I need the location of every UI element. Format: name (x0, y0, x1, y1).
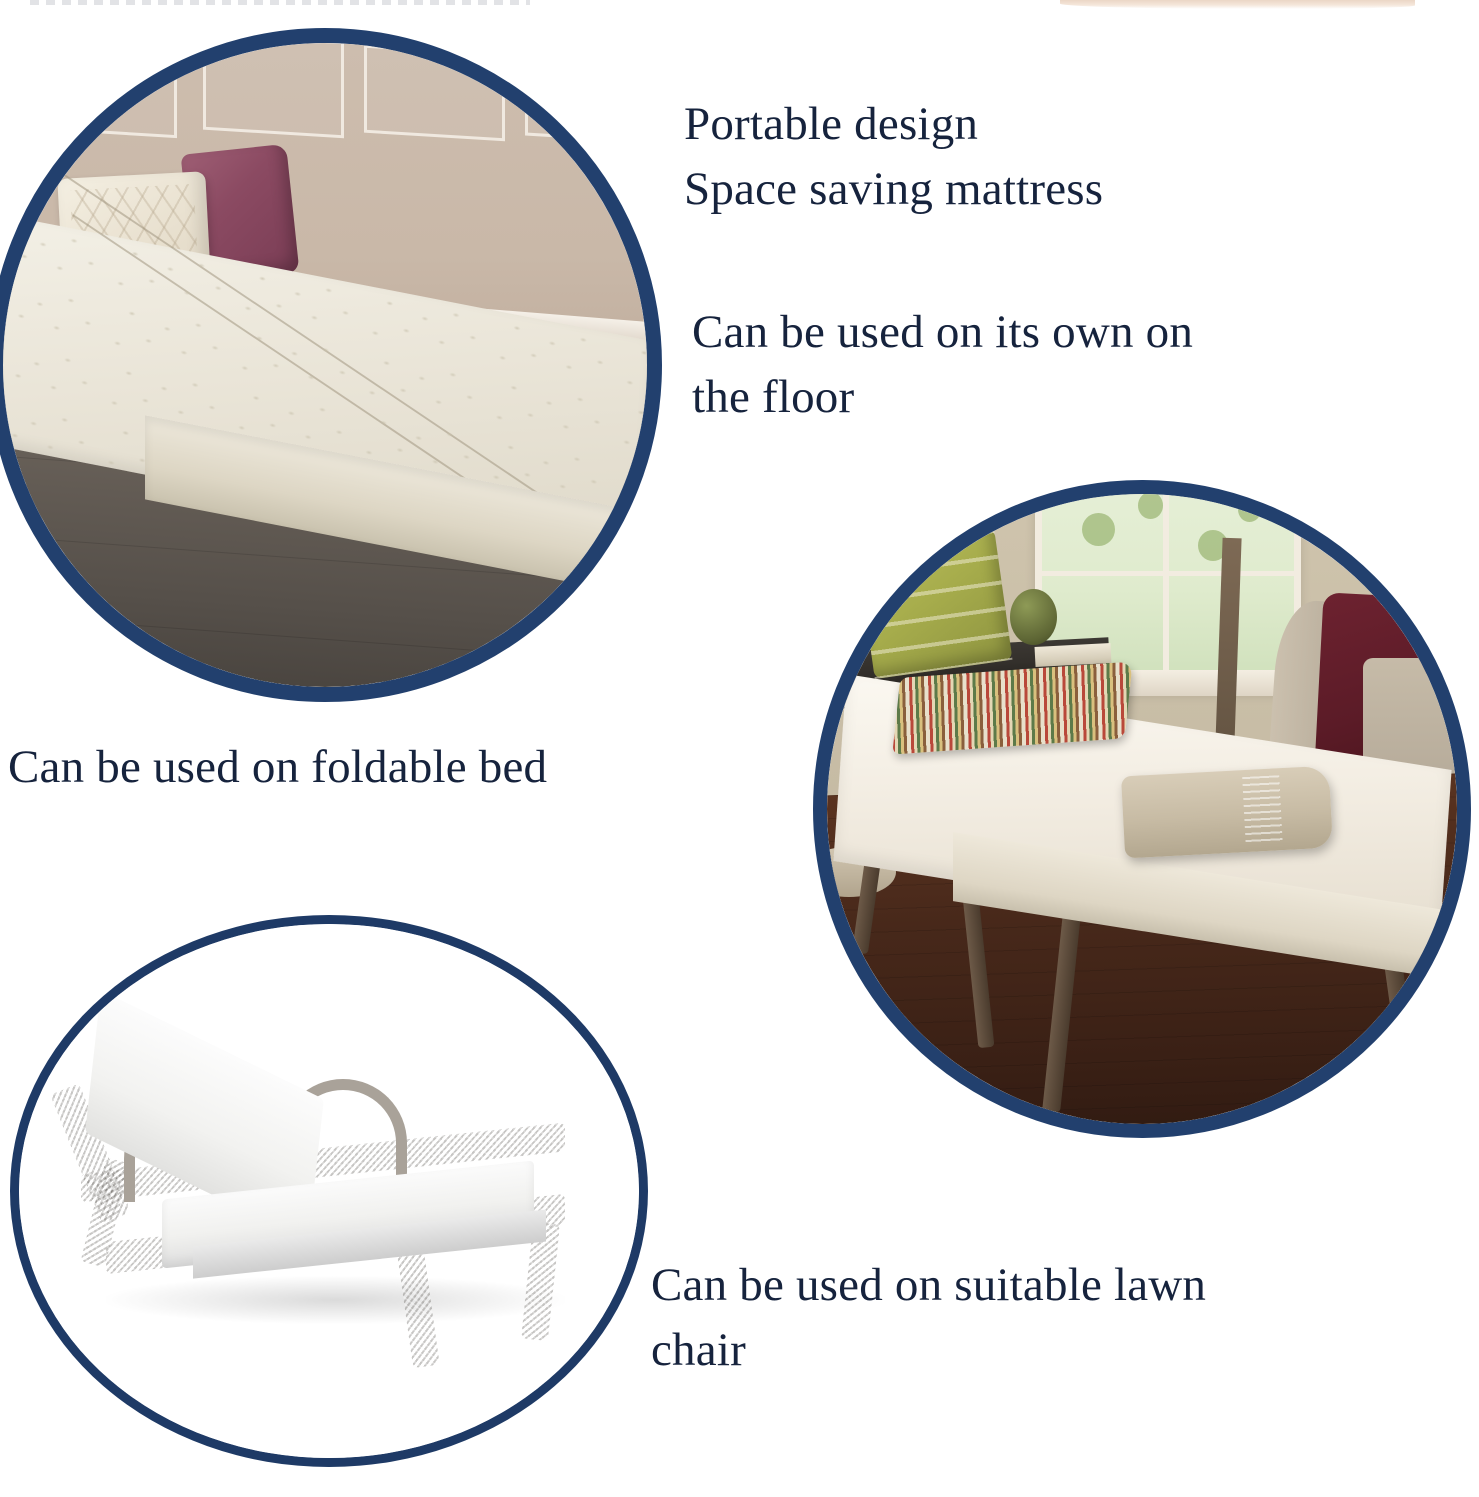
green-striped-pillow (856, 529, 1012, 679)
portable-design-caption: Portable design Space saving mattress (684, 92, 1384, 222)
floor-mattress-photo (0, 28, 662, 702)
lawn-chair-scene (19, 924, 639, 1458)
drop-shadow (106, 1276, 565, 1324)
floor-mattress-scene (3, 43, 647, 687)
folding-cot-photo (813, 480, 1471, 1138)
floor-mattress-photo-clip (3, 43, 647, 687)
decorative-orb (1010, 589, 1057, 646)
lawn-chair-caption: Can be used on suitable lawn chair (651, 1253, 1461, 1383)
folding-cot-scene (827, 494, 1457, 1124)
caption-line: Space saving mattress (684, 157, 1384, 222)
wall-panel (364, 45, 505, 141)
caption-line: chair (651, 1318, 1461, 1383)
lawn-chair-photo (10, 915, 648, 1467)
caption-line: the floor (692, 365, 1452, 430)
crop-artifact-beige-sliver (1060, 0, 1415, 9)
foldable-bed-caption: Can be used on foldable bed (8, 735, 808, 800)
folded-towel (1121, 766, 1333, 859)
folding-cot-photo-clip (827, 494, 1457, 1124)
infographic-page: Portable design Space saving mattress Ca… (0, 0, 1479, 1497)
wall-panel (525, 57, 647, 145)
caption-line: Can be used on its own on (692, 300, 1452, 365)
caption-line: Can be used on foldable bed (8, 735, 808, 800)
caption-line: Can be used on suitable lawn (651, 1253, 1461, 1318)
wall-panel (42, 43, 177, 138)
caption-line: Portable design (684, 92, 1384, 157)
crop-artifact-dashed-rule (30, 0, 530, 5)
lawn-chair-photo-clip (19, 924, 639, 1458)
floor-use-caption: Can be used on its own on the floor (692, 300, 1452, 430)
wall-panel (203, 43, 344, 138)
